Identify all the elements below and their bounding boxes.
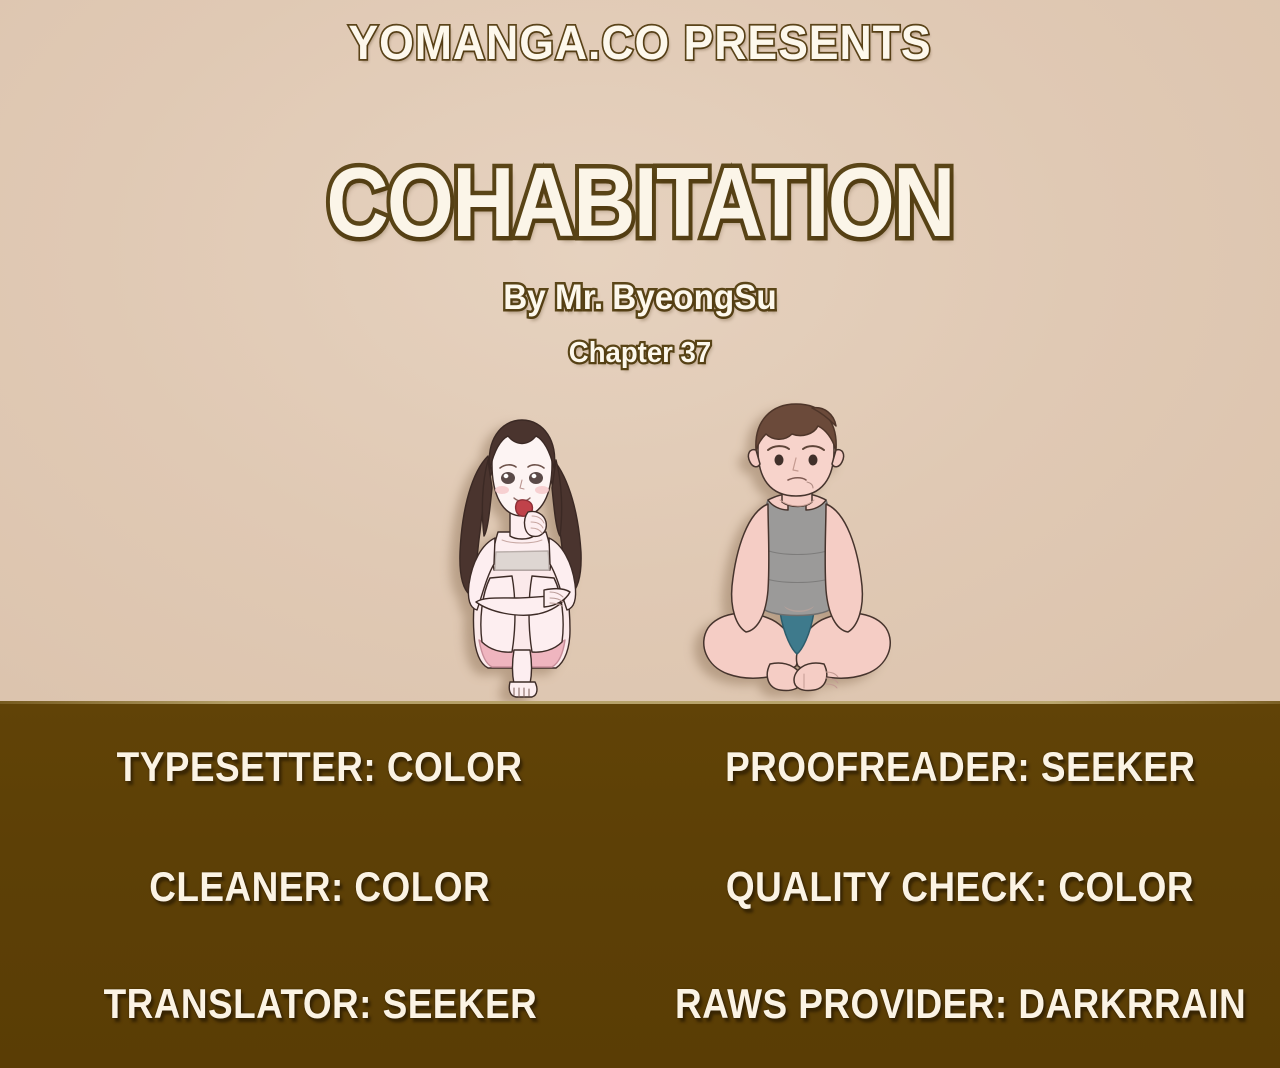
credit-cleaner: CLEANER: COLOR	[150, 862, 491, 912]
page-title: COHABITATION	[77, 150, 1203, 254]
credits-section: TYPESETTER: COLOR PROOFREADER: SEEKER CL…	[0, 701, 1280, 1068]
credits-row-1: TYPESETTER: COLOR PROOFREADER: SEEKER	[0, 736, 1280, 798]
credits-row-3: TRANSLATOR: SEEKER RAWS PROVIDER: DARKRR…	[0, 973, 1280, 1035]
credit-typesetter: TYPESETTER: COLOR	[117, 742, 523, 792]
credits-grid: TYPESETTER: COLOR PROOFREADER: SEEKER CL…	[0, 701, 1280, 1068]
presents-banner: YOMANGA.CO PRESENTS	[45, 16, 1235, 72]
chapter-label: Chapter 37	[32, 335, 1248, 371]
credit-cell-proofreader: PROOFREADER: SEEKER	[640, 736, 1280, 798]
credit-translator: TRANSLATOR: SEEKER	[103, 979, 537, 1029]
character-boy-illustration	[684, 400, 910, 701]
credit-cell-cleaner: CLEANER: COLOR	[0, 856, 640, 918]
credit-proofreader: PROOFREADER: SEEKER	[725, 742, 1195, 792]
credit-cell-translator: TRANSLATOR: SEEKER	[0, 973, 640, 1035]
credit-cell-quality-check: QUALITY CHECK: COLOR	[640, 856, 1280, 918]
credit-quality-check: QUALITY CHECK: COLOR	[726, 862, 1194, 912]
manga-credits-page: YOMANGA.CO PRESENTS COHABITATION By Mr. …	[0, 0, 1280, 1068]
author-byline: By Mr. ByeongSu	[32, 277, 1248, 319]
hero-section: YOMANGA.CO PRESENTS COHABITATION By Mr. …	[0, 0, 1280, 701]
credit-raws-provider: RAWS PROVIDER: DARKRRAIN	[674, 979, 1245, 1029]
credits-row-2: CLEANER: COLOR QUALITY CHECK: COLOR	[0, 856, 1280, 918]
character-girl-illustration	[432, 412, 612, 701]
credit-cell-typesetter: TYPESETTER: COLOR	[0, 736, 640, 798]
credit-cell-raws-provider: RAWS PROVIDER: DARKRRAIN	[640, 973, 1280, 1035]
